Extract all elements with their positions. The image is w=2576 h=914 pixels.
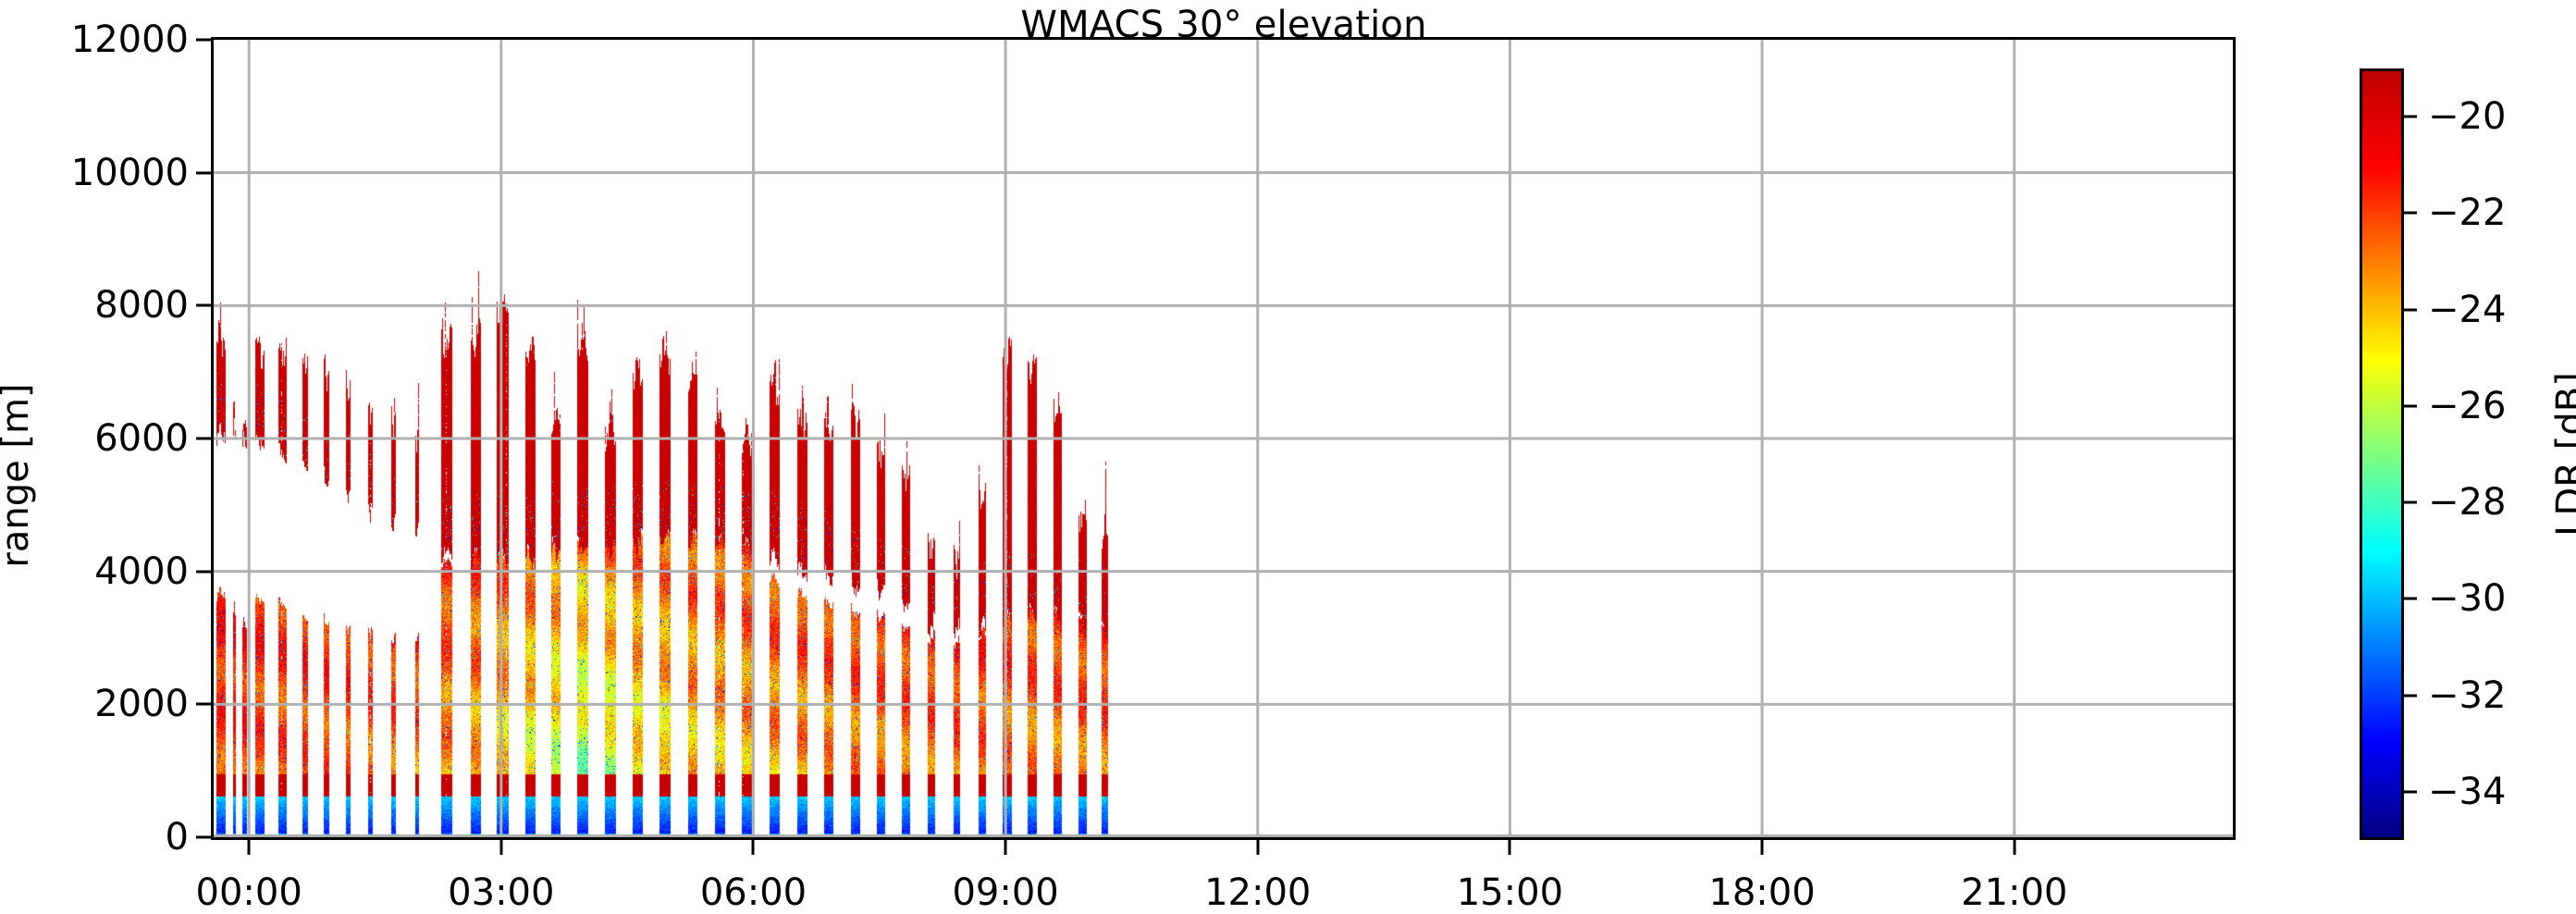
x-tick-mark <box>499 840 502 855</box>
y-tick-mark <box>196 836 211 839</box>
x-tick-mark <box>2013 840 2015 855</box>
x-tick-mark <box>752 840 755 855</box>
y-tick-mark <box>196 570 211 573</box>
x-tick-label: 12:00 <box>1204 871 1311 914</box>
x-tick-mark <box>1509 840 1511 855</box>
heatmap-canvas <box>214 40 2233 837</box>
colorbar-tick-mark <box>2404 116 2417 118</box>
x-tick-label: 03:00 <box>448 871 554 914</box>
x-tick-label: 15:00 <box>1457 871 1563 914</box>
y-tick-label: 8000 <box>94 284 189 327</box>
colorbar-tick-label: −20 <box>2428 95 2506 138</box>
plot-area <box>211 37 2236 840</box>
y-tick-label: 10000 <box>71 152 189 194</box>
colorbar-tick-mark <box>2404 694 2417 697</box>
colorbar-tick-mark <box>2404 404 2417 407</box>
colorbar-tick-mark <box>2404 790 2417 793</box>
y-tick-mark <box>196 438 211 440</box>
x-axis: 00:0003:0006:0009:0012:0015:0018:0021:00 <box>211 840 2236 909</box>
y-axis: range [m] 020004000600080001000012000 <box>0 37 211 840</box>
x-tick-mark <box>1005 840 1007 855</box>
y-tick-mark <box>196 39 211 42</box>
colorbar-gradient <box>2362 71 2401 837</box>
y-tick-mark <box>196 304 211 307</box>
figure-root: WMACS 30° elevation range [m] 0200040006… <box>0 0 2576 909</box>
colorbar-tick-mark <box>2404 212 2417 215</box>
y-tick-label: 4000 <box>94 550 189 593</box>
colorbar-tick-mark <box>2404 501 2417 504</box>
x-tick-mark <box>1761 840 1764 855</box>
y-axis-label: range [m] <box>0 383 37 567</box>
y-tick-label: 2000 <box>94 683 189 725</box>
y-tick-label: 6000 <box>94 417 189 460</box>
x-tick-label: 09:00 <box>952 871 1058 914</box>
colorbar-bar <box>2360 68 2404 840</box>
x-tick-mark <box>248 840 251 855</box>
colorbar-tick-label: −26 <box>2428 385 2506 427</box>
colorbar-tick-mark <box>2404 598 2417 600</box>
colorbar-tick-label: −24 <box>2428 289 2506 331</box>
x-tick-label: 00:00 <box>196 871 302 914</box>
colorbar-label: LDR [dB] <box>2549 372 2576 537</box>
y-tick-label: 0 <box>166 816 189 858</box>
x-tick-mark <box>1256 840 1259 855</box>
colorbar-tick-label: −28 <box>2428 481 2506 524</box>
y-tick-label: 12000 <box>71 19 189 61</box>
colorbar: −20−22−24−26−28−30−32−34 LDR [dB] <box>2360 68 2576 840</box>
y-tick-mark <box>196 703 211 706</box>
x-tick-label: 21:00 <box>1961 871 2067 914</box>
x-tick-label: 18:00 <box>1708 871 1815 914</box>
y-tick-mark <box>196 171 211 174</box>
colorbar-tick-label: −22 <box>2428 191 2506 234</box>
colorbar-tick-label: −30 <box>2428 577 2506 620</box>
colorbar-tick-label: −34 <box>2428 771 2506 813</box>
colorbar-tick-label: −32 <box>2428 674 2506 717</box>
colorbar-tick-mark <box>2404 308 2417 311</box>
x-tick-label: 06:00 <box>700 871 807 914</box>
